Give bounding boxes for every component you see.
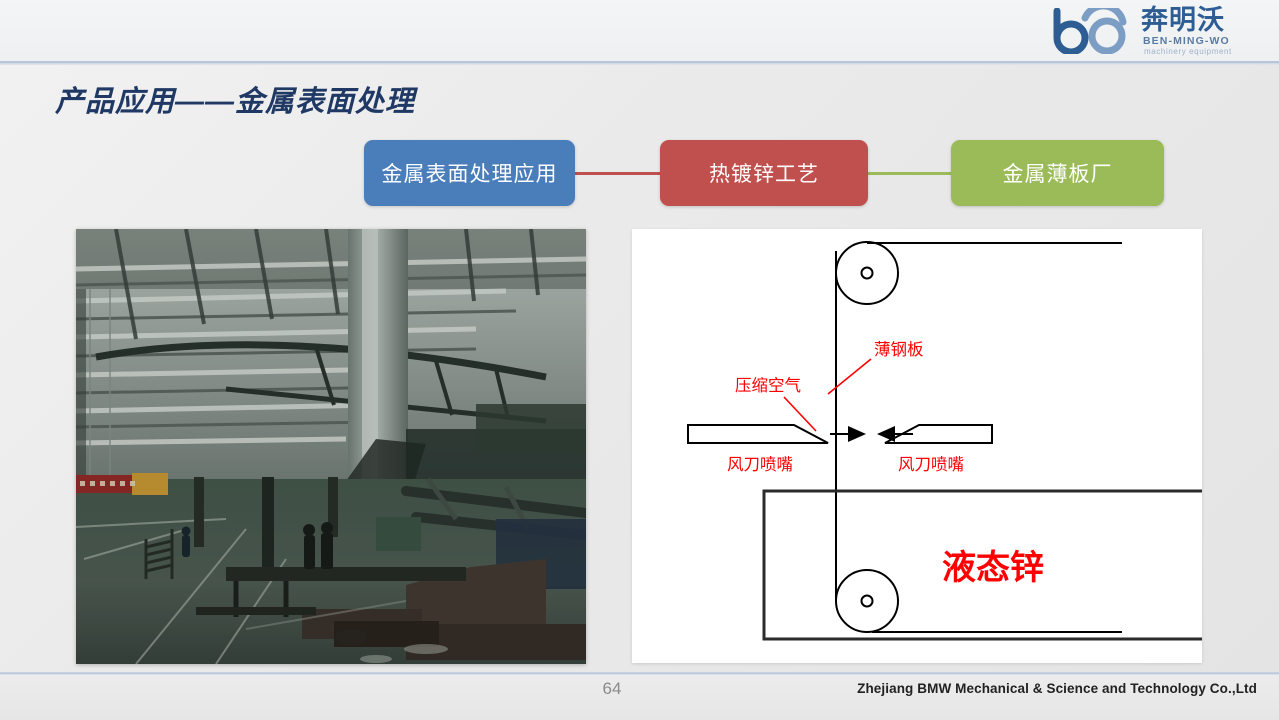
factory-photo	[76, 229, 586, 664]
footer-company-name: Zhejiang BMW Mechanical & Science and Te…	[857, 681, 1257, 696]
label-air-knife-right: 风刀喷嘴	[898, 455, 964, 474]
flow-box-hot-dip-galvanizing[interactable]: 热镀锌工艺	[660, 140, 868, 206]
logo-latin-name: BEN-MING-WO	[1143, 35, 1230, 47]
flow-connector-2	[868, 172, 951, 175]
page-number: 64	[590, 679, 634, 699]
flow-box-metal-surface-treatment[interactable]: 金属表面处理应用	[364, 140, 575, 206]
label-compressed-air: 压缩空气	[735, 376, 801, 395]
slide: 奔明沃 BEN-MING-WO machinery equipment 产品应用…	[0, 0, 1279, 720]
label-air-knife-left: 风刀喷嘴	[727, 455, 793, 474]
logo-tagline: machinery equipment	[1144, 47, 1232, 56]
label-liquid-zinc: 液态锌	[942, 549, 1044, 587]
flow-box-sheet-metal-plant[interactable]: 金属薄板厂	[951, 140, 1164, 206]
label-steel-sheet: 薄钢板	[874, 340, 924, 359]
galvanizing-schematic: 压缩空气 薄钢板 风刀喷嘴 风刀喷嘴 液态锌	[632, 229, 1202, 663]
company-logo: 奔明沃 BEN-MING-WO machinery equipment	[1049, 4, 1267, 58]
logo-chinese-name: 奔明沃	[1141, 5, 1225, 35]
page-title: 产品应用——金属表面处理	[55, 78, 415, 120]
header-divider-shadow	[0, 64, 1279, 65]
flow-connector-1	[575, 172, 660, 175]
bo-monogram-icon	[1049, 8, 1141, 54]
